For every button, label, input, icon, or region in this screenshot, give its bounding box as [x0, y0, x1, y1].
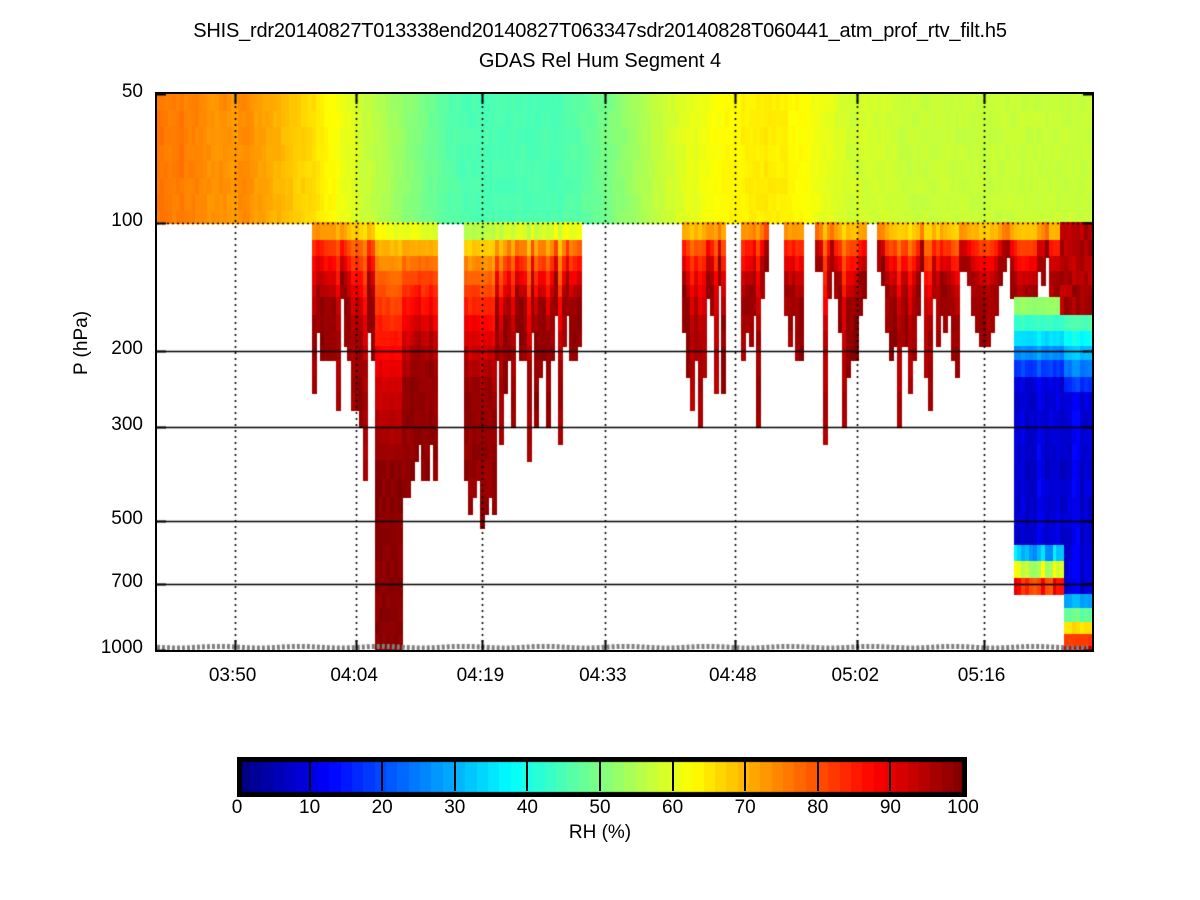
colorbar-tick-label: 0: [197, 798, 277, 817]
colorbar-axis-title: RH (%): [0, 822, 1200, 844]
colorbar-tick-label: 90: [850, 798, 930, 817]
plot-area: [155, 92, 1094, 652]
colorbar-tick-label: 50: [560, 798, 640, 817]
figure-root: SHIS_rdr20140827T013338end20140827T06334…: [0, 0, 1200, 900]
figure-title: SHIS_rdr20140827T013338end20140827T06334…: [0, 18, 1200, 74]
colorbar-tick-label: 70: [705, 798, 785, 817]
colorbar-tick-label: 60: [633, 798, 713, 817]
title-subtitle: GDAS Rel Hum Segment 4: [0, 48, 1200, 74]
y-tick-label: 50: [23, 82, 143, 101]
colorbar-gradient: [237, 757, 967, 797]
colorbar-tick-label: 100: [923, 798, 1003, 817]
y-axis-title: P (hPa): [71, 243, 93, 443]
x-tick-label: 05:02: [795, 666, 915, 685]
x-tick-label: 03:50: [173, 666, 293, 685]
colorbar-tick-label: 10: [270, 798, 350, 817]
heatmap-canvas: [157, 94, 1092, 650]
x-tick-label: 04:19: [420, 666, 540, 685]
y-tick-label: 700: [23, 572, 143, 591]
colorbar-tick-label: 40: [487, 798, 567, 817]
title-filename: SHIS_rdr20140827T013338end20140827T06334…: [0, 18, 1200, 44]
x-tick-label: 05:16: [922, 666, 1042, 685]
y-tick-label: 100: [23, 211, 143, 230]
x-tick-label: 04:04: [294, 666, 414, 685]
y-tick-label: 1000: [23, 638, 143, 657]
colorbar-tick-label: 30: [415, 798, 495, 817]
x-tick-label: 04:33: [543, 666, 663, 685]
colorbar-tick-label: 20: [342, 798, 422, 817]
colorbar-tick-label: 80: [778, 798, 858, 817]
x-tick-label: 04:48: [673, 666, 793, 685]
y-tick-label: 500: [23, 509, 143, 528]
colorbar: [237, 757, 963, 793]
